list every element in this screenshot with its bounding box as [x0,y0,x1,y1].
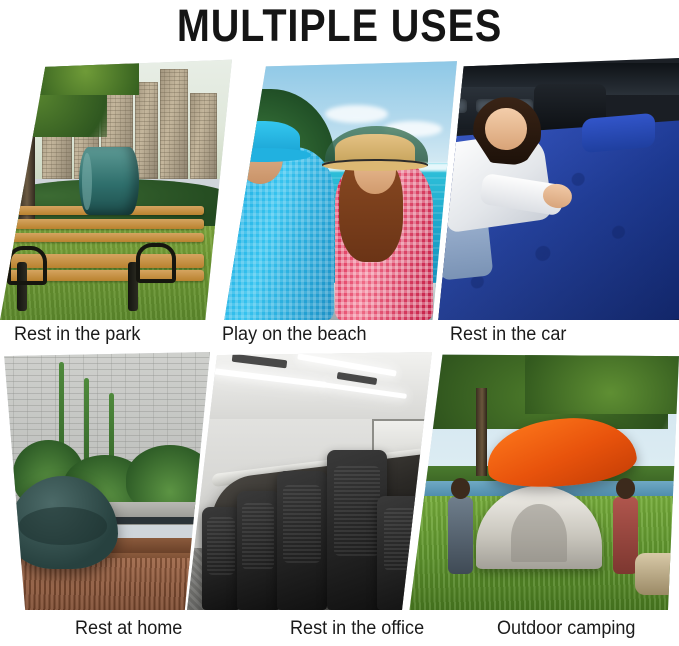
camping-tree-canopy-2 [525,352,679,414]
beach-scene [212,58,457,320]
camping-person-right-head [616,478,635,499]
page-title: MULTIPLE USES [41,0,639,54]
camping-duffel-bag [635,553,679,594]
caption-car: Rest in the car [450,322,566,348]
caption-park: Rest in the park [14,322,140,348]
gallery-tile-park[interactable] [0,58,232,320]
camping-person-left-head [451,478,470,499]
park-tree-trunk [19,58,35,220]
home-scene [0,352,210,610]
office-scene [182,352,432,610]
park-sleeping-pad [79,147,139,215]
car-scene [437,58,679,320]
beach-man-hat [224,121,300,158]
park-scene [0,58,232,320]
gallery-tile-home[interactable] [0,352,210,610]
gallery-tile-beach[interactable] [212,58,457,320]
camping-scene [404,352,679,610]
car-woman-head [485,108,526,150]
car-mattress-pillow [582,112,655,152]
gallery-row-1 [0,58,679,320]
caption-row-1: Rest in the park Play on the beach Rest … [0,322,679,348]
camping-person-left [448,497,473,574]
home-wood-deck [0,558,210,610]
gallery-row-2 [0,352,679,610]
caption-row-2: Rest at home Rest in the office Outdoor … [0,616,679,642]
caption-beach: Play on the beach [222,322,367,348]
caption-home: Rest at home [75,616,182,642]
gallery-tile-office[interactable] [182,352,432,610]
caption-camping: Outdoor camping [497,616,635,642]
park-tree-canopy-2 [32,58,139,95]
park-bench [5,199,205,304]
caption-office: Rest in the office [290,616,424,642]
gallery-tile-car[interactable] [437,58,679,320]
gallery-tile-camping[interactable] [404,352,679,610]
camping-tree-trunk [476,388,487,476]
infographic-page: MULTIPLE USES [0,0,679,646]
beach-woman-straw-hat [335,134,416,168]
